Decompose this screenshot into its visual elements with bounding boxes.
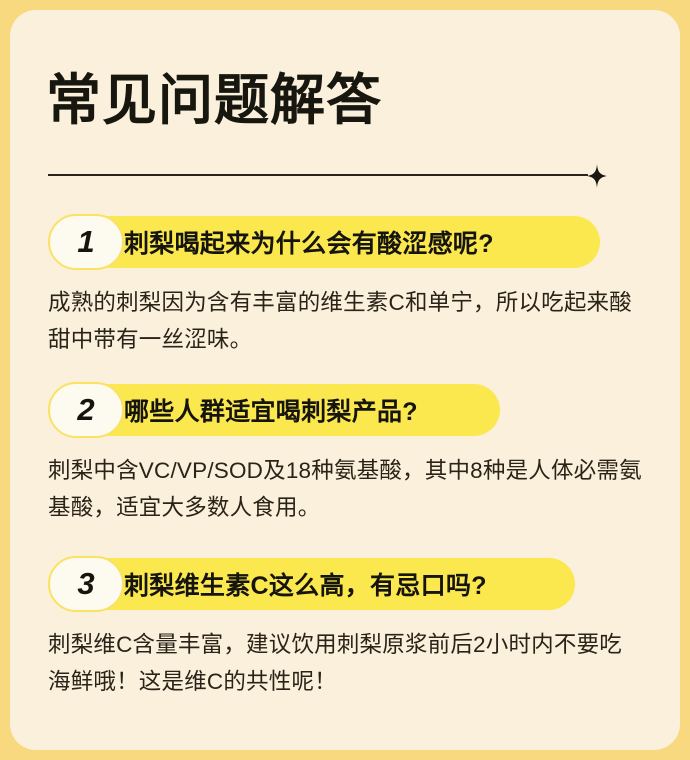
title-divider — [48, 168, 604, 184]
faq-number: 1 — [77, 226, 94, 257]
faq-number-badge: 2 — [48, 382, 124, 438]
sparkle-icon — [586, 164, 608, 188]
page-title: 常见问题解答 — [46, 72, 382, 129]
faq-question-row[interactable]: 哪些人群适宜喝刺梨产品? 2 — [0, 382, 690, 438]
faq-question-text: 刺梨维生素C这么高，有忌口吗? — [124, 566, 487, 602]
faq-question-pill[interactable]: 刺梨维生素C这么高，有忌口吗? — [62, 558, 575, 610]
faq-item: 刺梨维生素C这么高，有忌口吗? 3 刺梨维C含量丰富，建议饮用刺梨原浆前后2小时… — [0, 556, 690, 612]
faq-answer-text: 刺梨维C含量丰富，建议饮用刺梨原浆前后2小时内不要吃海鲜哦！这是维C的共性呢！ — [48, 626, 644, 700]
faq-question-text: 刺梨喝起来为什么会有酸涩感呢? — [124, 224, 494, 260]
faq-page: 常见问题解答 刺梨喝起来为什么会有酸涩感呢? 1 成熟的刺梨因为含有丰富的维生素… — [0, 0, 690, 760]
faq-number-badge: 1 — [48, 214, 124, 270]
faq-answer-text: 刺梨中含VC/VP/SOD及18种氨基酸，其中8种是人体必需氨基酸，适宜大多数人… — [48, 452, 644, 526]
faq-question-pill[interactable]: 哪些人群适宜喝刺梨产品? — [62, 384, 500, 436]
faq-number: 2 — [77, 394, 94, 425]
faq-answer-text: 成熟的刺梨因为含有丰富的维生素C和单宁，所以吃起来酸甜中带有一丝涩味。 — [48, 284, 644, 358]
faq-question-row[interactable]: 刺梨喝起来为什么会有酸涩感呢? 1 — [0, 214, 690, 270]
faq-item: 哪些人群适宜喝刺梨产品? 2 刺梨中含VC/VP/SOD及18种氨基酸，其中8种… — [0, 382, 690, 438]
faq-item: 刺梨喝起来为什么会有酸涩感呢? 1 成熟的刺梨因为含有丰富的维生素C和单宁，所以… — [0, 214, 690, 270]
faq-question-text: 哪些人群适宜喝刺梨产品? — [124, 392, 418, 428]
faq-number-badge: 3 — [48, 556, 124, 612]
faq-question-pill[interactable]: 刺梨喝起来为什么会有酸涩感呢? — [62, 216, 600, 268]
divider-line — [48, 174, 588, 176]
faq-number: 3 — [77, 568, 94, 599]
faq-question-row[interactable]: 刺梨维生素C这么高，有忌口吗? 3 — [0, 556, 690, 612]
